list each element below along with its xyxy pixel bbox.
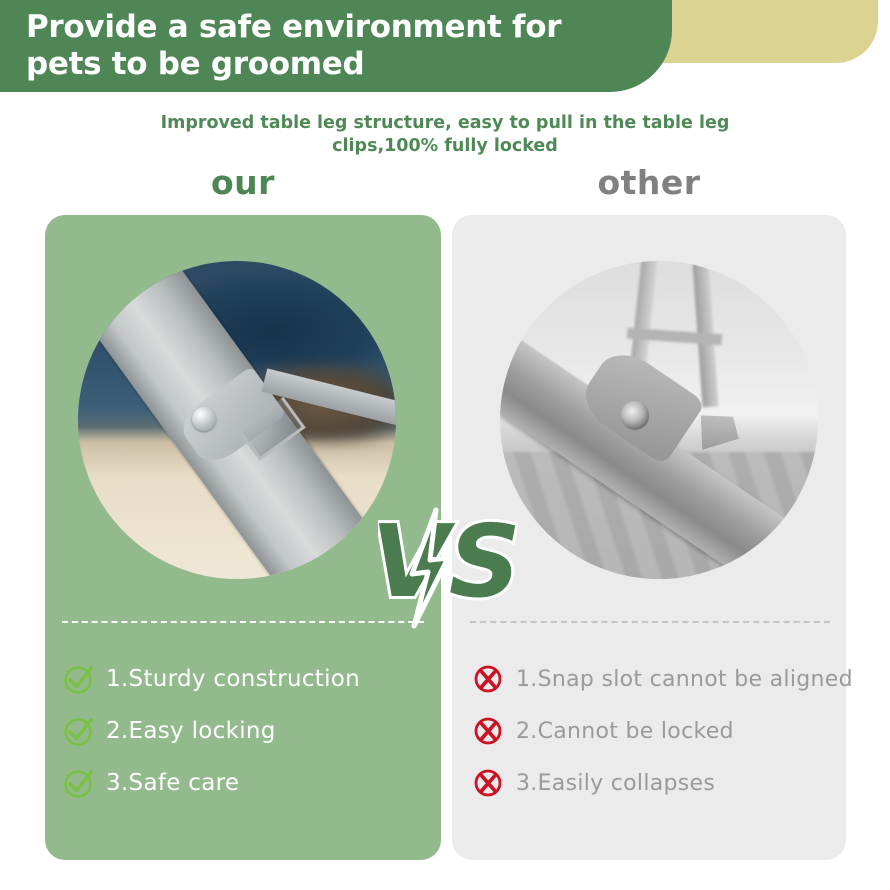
- product-photo-other: [500, 261, 818, 579]
- list-item-label: 2.Easy locking: [106, 718, 276, 744]
- list-item-label: 1.Snap slot cannot be aligned: [516, 667, 853, 692]
- list-item: 1.Snap slot cannot be aligned: [472, 655, 852, 703]
- page-title: Provide a safe environment for pets to b…: [26, 9, 656, 83]
- list-item: 2.Easy locking: [62, 707, 442, 755]
- circle-x-icon: [472, 662, 506, 696]
- circle-check-icon: [62, 662, 96, 696]
- circle-x-icon: [472, 714, 506, 748]
- list-item-label: 3.Easily collapses: [516, 771, 715, 796]
- divider-ours: [62, 621, 424, 623]
- list-item: 3.Safe care: [62, 759, 442, 807]
- column-label-ours: our: [45, 163, 441, 202]
- feature-list-other: 1.Snap slot cannot be aligned 2.Cannot b…: [472, 655, 852, 811]
- screw-icon: [621, 401, 650, 430]
- page-header: Provide a safe environment for pets to b…: [0, 0, 890, 100]
- column-label-other: other: [452, 163, 846, 202]
- product-photo-ours: [78, 261, 396, 579]
- circle-x-icon: [472, 766, 506, 800]
- list-item: 2.Cannot be locked: [472, 707, 852, 755]
- list-item: 1.Sturdy construction: [62, 655, 442, 703]
- list-item-label: 3.Safe care: [106, 770, 239, 796]
- subtitle-text: Improved table leg structure, easy to pu…: [120, 112, 770, 158]
- list-item-label: 1.Sturdy construction: [106, 666, 360, 692]
- list-item-label: 2.Cannot be locked: [516, 719, 734, 744]
- list-item: 3.Easily collapses: [472, 759, 852, 807]
- feature-list-ours: 1.Sturdy construction 2.Easy locking 3.S…: [62, 655, 442, 811]
- circle-check-icon: [62, 766, 96, 800]
- divider-other: [470, 621, 830, 623]
- circle-check-icon: [62, 714, 96, 748]
